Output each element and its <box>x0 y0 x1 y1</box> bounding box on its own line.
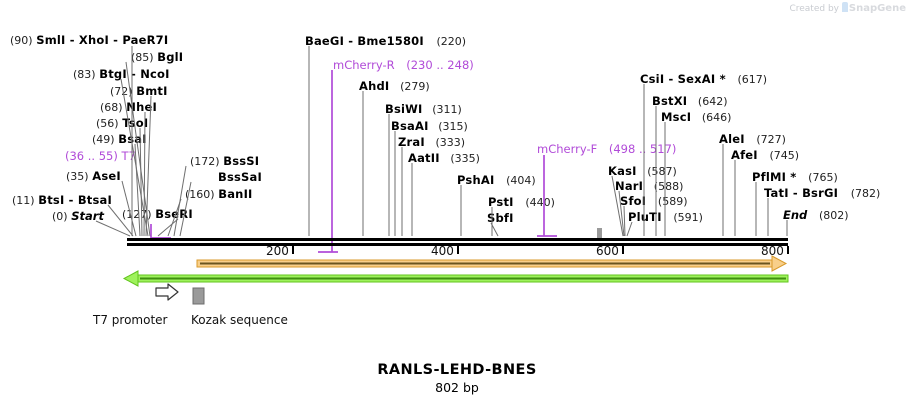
label-alei[interactable]: AleI (727) <box>719 133 786 146</box>
label-asei[interactable]: (35) AseI <box>66 170 121 183</box>
label-name: SfoI <box>620 194 646 208</box>
legend-label-kozak-sequence[interactable]: Kozak sequence <box>191 313 288 327</box>
label-position: (617) <box>737 73 767 86</box>
label-kasi[interactable]: KasI (587) <box>608 165 677 178</box>
label-nari[interactable]: NarI (588) <box>615 180 683 193</box>
label-name: MscI <box>661 110 691 124</box>
label-name: PshAI <box>457 173 494 187</box>
label-position: (782) <box>851 187 881 200</box>
label-zrai[interactable]: ZraI (333) <box>398 136 465 149</box>
label-aatii[interactable]: AatII (335) <box>408 152 480 165</box>
label-name: KasI <box>608 164 637 178</box>
label-end[interactable]: End (802) <box>783 209 849 222</box>
label-bgli[interactable]: (85) BglI <box>131 51 183 64</box>
label-start[interactable]: (0) Start <box>52 210 104 223</box>
label-position: (588) <box>654 180 684 193</box>
label-name: TatI - BsrGI <box>764 186 838 200</box>
label-btgi-ncoi[interactable]: (83) BtgI - NcoI <box>73 68 170 81</box>
label-name: BaeGI - Bme1580I <box>305 34 424 48</box>
label-position: (498 .. 517) <box>609 142 677 156</box>
label-name: BsaAI <box>391 119 429 133</box>
label-bsai[interactable]: (49) BsaI <box>92 133 147 146</box>
label-position: (279) <box>400 80 430 93</box>
label-tsoi[interactable]: (56) TsoI <box>96 117 148 130</box>
ruler-tick-200: 200 <box>266 244 289 258</box>
label-afei[interactable]: AfeI (745) <box>731 149 799 162</box>
label-position: (765) <box>808 171 838 184</box>
label-name: Start <box>71 209 104 223</box>
label-baegi-bme1580i[interactable]: BaeGI - Bme1580I (220) <box>305 35 466 48</box>
label-pflmi[interactable]: PflMI * (765) <box>752 171 838 184</box>
label-position: (646) <box>702 111 732 124</box>
label-position: (589) <box>658 195 688 208</box>
label-position: (68) <box>100 101 123 114</box>
label-name: BtgI - NcoI <box>99 67 169 81</box>
label-position: (172) <box>190 155 220 168</box>
label-name: BsaI <box>118 132 146 146</box>
label-position: (315) <box>438 120 468 133</box>
label-name: PflMI * <box>752 170 797 184</box>
label-name: BmtI <box>136 84 167 98</box>
label-position: (727) <box>756 133 786 146</box>
label-position: (90) <box>10 34 33 47</box>
label-position: (49) <box>92 133 115 146</box>
label-position: (85) <box>131 51 154 64</box>
label-bstxi[interactable]: BstXI (642) <box>652 95 728 108</box>
label-name: AfeI <box>731 148 758 162</box>
label-psti[interactable]: PstI (440) <box>488 196 555 209</box>
label-position: (335) <box>450 152 480 165</box>
label-position: (745) <box>769 149 799 162</box>
label-name: CsiI - SexAI * <box>640 72 726 86</box>
snapgene-watermark: Created by SnapGene <box>789 2 906 14</box>
label-sbfi[interactable]: SbfI <box>487 212 514 224</box>
label-msci[interactable]: MscI (646) <box>661 111 731 124</box>
label-sfoi[interactable]: SfoI (589) <box>620 195 688 208</box>
label-name: BssSI <box>223 154 259 168</box>
label-position: (404) <box>506 174 536 187</box>
label-tati-bsrgi[interactable]: TatI - BsrGI (782) <box>764 187 880 200</box>
label-name: SbfI <box>487 211 514 225</box>
ruler-tick-800: 800 <box>761 244 784 258</box>
label-name: AhdI <box>359 79 389 93</box>
label-name: BsiWI <box>385 102 423 116</box>
snapgene-logo-icon <box>842 2 848 12</box>
label-name: BglI <box>157 50 183 64</box>
label-name: AseI <box>92 169 121 183</box>
label-name: BstXI <box>652 94 687 108</box>
label-mcherry-r-primer[interactable]: mCherry-R (230 .. 248) <box>333 59 474 71</box>
label-position: (72) <box>110 85 133 98</box>
label-pshai[interactable]: PshAI (404) <box>457 174 536 187</box>
label-name: BanII <box>218 187 252 201</box>
label-bsssai[interactable]: BssSaI <box>218 171 262 183</box>
label-bsiwi[interactable]: BsiWI (311) <box>385 103 462 116</box>
label-position: (220) <box>437 35 467 48</box>
watermark-brand: SnapGene <box>849 3 906 14</box>
label-btsi-btsai[interactable]: (11) BtsI - BtsaI <box>12 194 112 207</box>
label-name: NarI <box>615 179 643 193</box>
label-bseri[interactable]: (127) BseRI <box>122 208 193 221</box>
label-position: (36 .. 55) <box>65 149 118 163</box>
label-position: (83) <box>73 68 96 81</box>
label-csii-sexai[interactable]: CsiI - SexAI * (617) <box>640 73 767 86</box>
label-position: (127) <box>122 208 152 221</box>
page-title: RANLS-LEHD-BNES <box>0 362 914 378</box>
label-name: PstI <box>488 195 514 209</box>
label-position: (440) <box>525 196 555 209</box>
label-nhei[interactable]: (68) NheI <box>100 101 157 114</box>
ruler-tick-600: 600 <box>596 244 619 258</box>
label-name: BtsI - BtsaI <box>38 193 112 207</box>
label-name: End <box>783 208 807 222</box>
label-name: AleI <box>719 132 745 146</box>
label-name: TsoI <box>122 116 148 130</box>
label-position: (11) <box>12 194 35 207</box>
label-position: (587) <box>647 165 677 178</box>
label-position: (642) <box>698 95 728 108</box>
legend-label-t7-promoter[interactable]: T7 promoter <box>93 313 167 327</box>
label-pluti[interactable]: PluTI (591) <box>628 211 703 224</box>
label-position: (591) <box>673 211 703 224</box>
label-smli-xhoi-paer7i[interactable]: (90) SmlI - XhoI - PaeR7I <box>10 34 168 47</box>
label-position: (333) <box>436 136 466 149</box>
label-name: ZraI <box>398 135 425 149</box>
label-bsaai[interactable]: BsaAI (315) <box>391 120 468 133</box>
label-name: T7 <box>122 149 136 163</box>
label-position: (311) <box>432 103 462 116</box>
label-name: mCherry-F <box>537 142 597 156</box>
label-name: PluTI <box>628 210 662 224</box>
label-position: (56) <box>96 117 119 130</box>
watermark-prefix: Created by <box>789 4 839 14</box>
label-position: (230 .. 248) <box>406 58 474 72</box>
label-bsssi[interactable]: (172) BssSI <box>190 155 259 168</box>
label-name: BssSaI <box>218 170 262 184</box>
label-position: (35) <box>66 170 89 183</box>
label-name: AatII <box>408 151 440 165</box>
label-name: BseRI <box>155 207 193 221</box>
label-position: (802) <box>819 209 849 222</box>
label-name: NheI <box>126 100 157 114</box>
page-subtitle: 802 bp <box>0 380 914 395</box>
label-ahdi[interactable]: AhdI (279) <box>359 80 430 93</box>
label-mcherry-f-primer[interactable]: mCherry-F (498 .. 517) <box>537 143 676 155</box>
label-name: SmlI - XhoI - PaeR7I <box>36 33 168 47</box>
label-bmti[interactable]: (72) BmtI <box>110 85 168 98</box>
label-banii[interactable]: (160) BanII <box>185 188 253 201</box>
label-position: (160) <box>185 188 215 201</box>
label-t7-primer[interactable]: (36 .. 55) T7 <box>65 150 136 162</box>
label-position: (0) <box>52 210 68 223</box>
label-name: mCherry-R <box>333 58 395 72</box>
ruler-tick-400: 400 <box>431 244 454 258</box>
